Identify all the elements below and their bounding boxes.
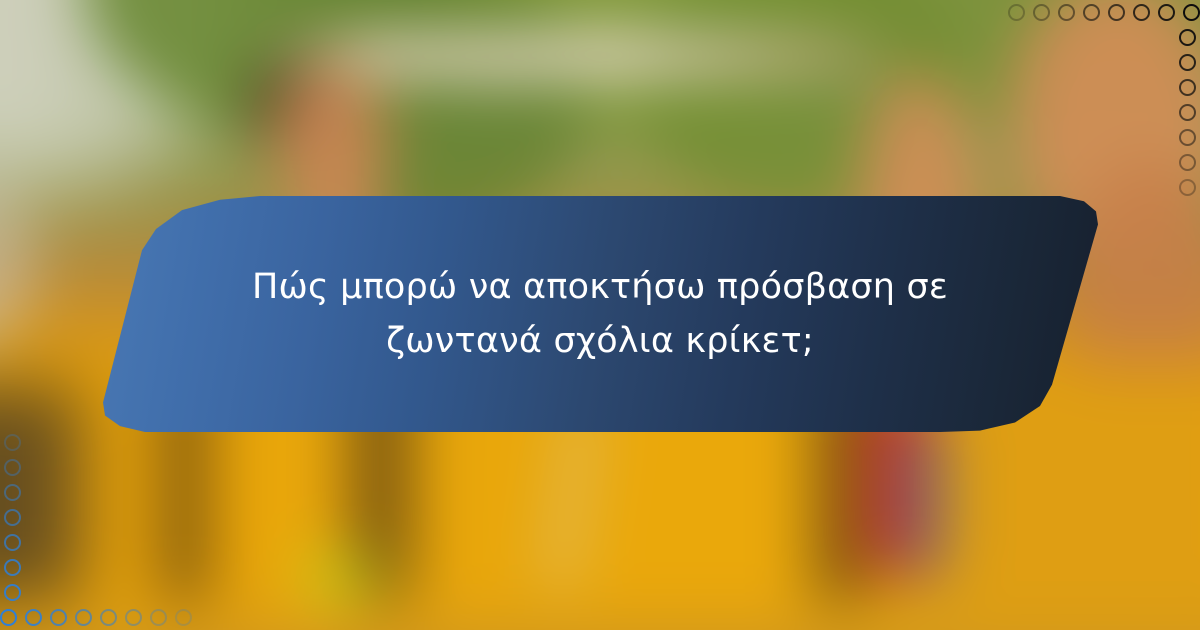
decor-dot — [1179, 29, 1196, 46]
decor-dot — [4, 534, 21, 551]
question-card: Πώς μπορώ να αποκτήσω πρόσβαση σε ζωνταν… — [100, 196, 1100, 432]
dot-grid-top-right — [983, 0, 1200, 217]
decor-dot — [4, 434, 21, 451]
decor-dot — [75, 609, 92, 626]
dot-grid-bottom-left — [0, 413, 217, 630]
decor-dot — [1179, 154, 1196, 171]
background-lime-accent — [303, 553, 379, 602]
decor-dot — [1179, 54, 1196, 71]
decor-dot — [1108, 4, 1125, 21]
decor-dot — [4, 459, 21, 476]
decor-dot — [1158, 4, 1175, 21]
decor-dot — [1179, 129, 1196, 146]
decor-dot — [150, 609, 167, 626]
decor-dot — [1058, 4, 1075, 21]
decor-dot — [4, 584, 21, 601]
decor-dot — [1179, 79, 1196, 96]
decor-dot — [1133, 4, 1150, 21]
decor-dot — [1033, 4, 1050, 21]
decor-dot — [25, 609, 42, 626]
decor-dot — [100, 609, 117, 626]
decor-dot — [50, 609, 67, 626]
background-highlight-top-left — [0, 0, 60, 148]
share-card-stage: Πώς μπορώ να αποκτήσω πρόσβαση σε ζωνταν… — [0, 0, 1200, 630]
decor-dot — [0, 609, 17, 626]
decor-dot — [1008, 4, 1025, 21]
question-text: Πώς μπορώ να αποκτήσω πρόσβαση σε ζωνταν… — [230, 260, 970, 369]
decor-dot — [1179, 179, 1196, 196]
question-card-text-area: Πώς μπορώ να αποκτήσω πρόσβαση σε ζωνταν… — [100, 196, 1100, 432]
decor-dot — [1183, 4, 1200, 21]
decor-dot — [1083, 4, 1100, 21]
decor-dot — [4, 484, 21, 501]
background-blue-accent — [902, 418, 941, 580]
decor-dot — [4, 509, 21, 526]
decor-dot — [4, 559, 21, 576]
decor-dot — [175, 609, 192, 626]
decor-dot — [125, 609, 142, 626]
decor-dot — [1179, 104, 1196, 121]
